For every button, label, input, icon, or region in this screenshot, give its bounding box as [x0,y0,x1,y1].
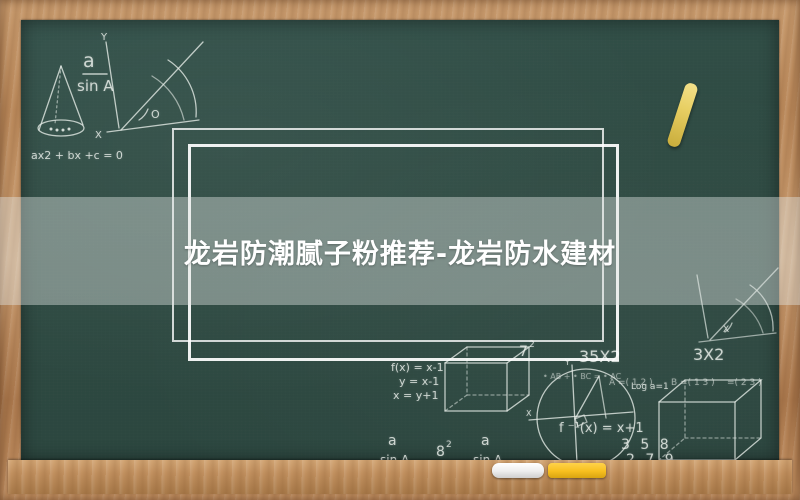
white-chalk [492,463,544,478]
chalk-ledge [8,460,792,494]
chalkboard-image: a sin A Y X O ax2 + bx +c = 0 X O f(x) =… [0,0,800,500]
yellow-eraser [548,463,606,478]
page-title: 龙岩防潮腻子粉推荐-龙岩防水建材 [0,197,800,305]
